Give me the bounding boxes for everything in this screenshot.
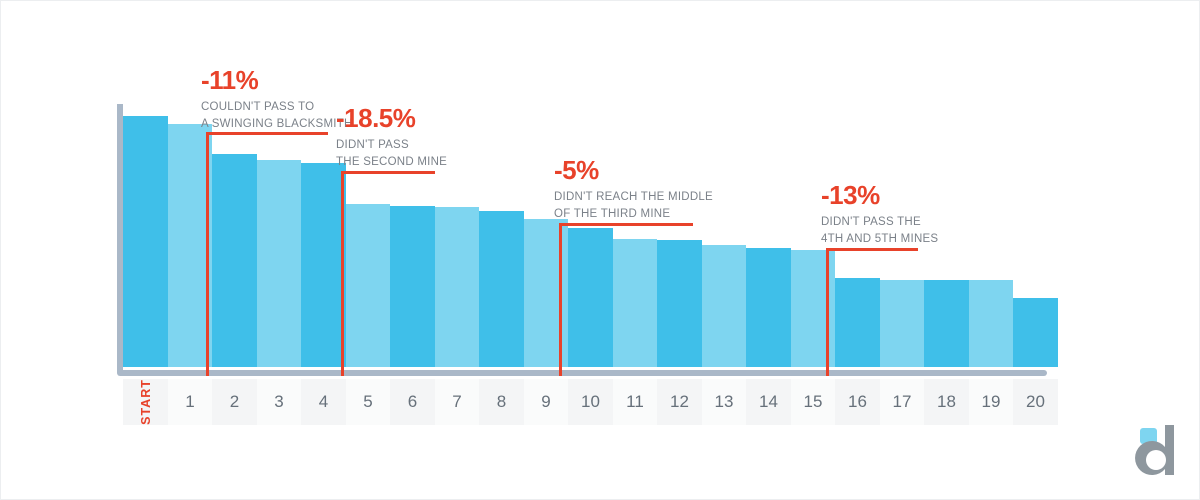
chart-canvas: -11%COULDN'T PASS TOA SWINGING BLACKSMIT…	[0, 0, 1200, 500]
x-label-3: 3	[257, 379, 301, 425]
x-label-4: 4	[301, 379, 346, 425]
bar-7	[435, 207, 479, 367]
x-label-15: 15	[791, 379, 835, 425]
annotation-description-line1: DIDN'T PASS	[336, 137, 447, 153]
bracket-vertical-drop-2	[341, 171, 344, 376]
x-label-text: 2	[230, 392, 239, 412]
bracket-horizontal-drop-1	[206, 132, 328, 135]
x-label-text: 13	[715, 392, 734, 412]
x-label-text: 14	[759, 392, 778, 412]
annotation-description-line2: 4TH AND 5TH MINES	[821, 231, 938, 247]
bar-18	[924, 280, 969, 367]
bar-10	[568, 228, 613, 367]
x-label-19: 19	[969, 379, 1013, 425]
annotation-drop-3: -5%DIDN'T REACH THE MIDDLEOF THE THIRD M…	[554, 157, 713, 222]
annotation-percent: -13%	[821, 182, 938, 209]
x-label-17: 17	[880, 379, 924, 425]
annotation-description-line1: DIDN'T REACH THE MIDDLE	[554, 189, 713, 205]
plot-area: -11%COULDN'T PASS TOA SWINGING BLACKSMIT…	[117, 101, 1047, 373]
bar-11	[613, 239, 657, 367]
x-label-12: 12	[657, 379, 702, 425]
bar-6	[390, 206, 435, 367]
bar-3	[257, 160, 301, 367]
bar-12	[657, 240, 702, 367]
x-label-16: 16	[835, 379, 880, 425]
x-label-text: 16	[848, 392, 867, 412]
x-label-text: 9	[541, 392, 550, 412]
d-logo	[1134, 424, 1180, 476]
bracket-vertical-drop-4	[826, 248, 829, 376]
x-label-text: 6	[408, 392, 417, 412]
x-label-1: 1	[168, 379, 212, 425]
bar-2	[212, 154, 257, 367]
bracket-vertical-drop-1	[206, 132, 209, 376]
x-label-text: START	[139, 379, 153, 425]
x-label-11: 11	[613, 379, 657, 425]
annotation-description-line2: OF THE THIRD MINE	[554, 206, 713, 222]
x-label-text: 7	[452, 392, 461, 412]
annotation-description-line1: DIDN'T PASS THE	[821, 214, 938, 230]
x-label-9: 9	[524, 379, 568, 425]
bar-4	[301, 163, 346, 367]
bracket-horizontal-drop-3	[559, 223, 693, 226]
bracket-horizontal-drop-2	[341, 171, 435, 174]
x-label-text: 4	[319, 392, 328, 412]
bar-5	[346, 204, 390, 367]
bracket-horizontal-drop-4	[826, 248, 918, 251]
bar-14	[746, 248, 791, 367]
bracket-vertical-drop-3	[559, 223, 562, 376]
annotation-drop-4: -13%DIDN'T PASS THE4TH AND 5TH MINES	[821, 182, 938, 247]
annotation-drop-2: -18.5%DIDN'T PASSTHE SECOND MINE	[336, 105, 447, 170]
x-label-10: 10	[568, 379, 613, 425]
bar-16	[835, 278, 880, 367]
bar-8	[479, 211, 524, 367]
x-label-8: 8	[479, 379, 524, 425]
x-label-text: 8	[497, 392, 506, 412]
x-axis-labels: START1234567891011121314151617181920	[117, 379, 1047, 425]
x-label-text: 15	[804, 392, 823, 412]
x-label-2: 2	[212, 379, 257, 425]
x-label-18: 18	[924, 379, 969, 425]
x-label-text: 5	[363, 392, 372, 412]
annotation-drop-1: -11%COULDN'T PASS TOA SWINGING BLACKSMIT…	[201, 67, 353, 132]
annotation-description-line1: COULDN'T PASS TO	[201, 99, 353, 115]
bar-19	[969, 280, 1013, 367]
x-label-20: 20	[1013, 379, 1058, 425]
x-label-text: 12	[670, 392, 689, 412]
bar-13	[702, 245, 746, 367]
x-label-start: START	[123, 379, 168, 425]
annotation-percent: -5%	[554, 157, 713, 184]
x-axis-line	[117, 370, 1047, 376]
x-label-6: 6	[390, 379, 435, 425]
bar-20	[1013, 298, 1058, 367]
bar-17	[880, 280, 924, 367]
x-label-text: 17	[893, 392, 912, 412]
x-label-14: 14	[746, 379, 791, 425]
x-label-text: 20	[1026, 392, 1045, 412]
x-label-text: 11	[626, 392, 644, 412]
x-label-13: 13	[702, 379, 746, 425]
d-logo-icon	[1134, 424, 1180, 476]
x-label-5: 5	[346, 379, 390, 425]
annotation-description-line2: A SWINGING BLACKSMITH	[201, 116, 353, 132]
x-label-text: 18	[937, 392, 956, 412]
x-label-text: 19	[982, 392, 1001, 412]
x-label-7: 7	[435, 379, 479, 425]
x-label-text: 1	[185, 392, 194, 412]
x-label-text: 10	[581, 392, 600, 412]
annotation-percent: -11%	[201, 67, 353, 94]
x-label-text: 3	[274, 392, 283, 412]
bar-start	[123, 116, 168, 367]
annotation-percent: -18.5%	[336, 105, 447, 132]
annotation-description-line2: THE SECOND MINE	[336, 154, 447, 170]
